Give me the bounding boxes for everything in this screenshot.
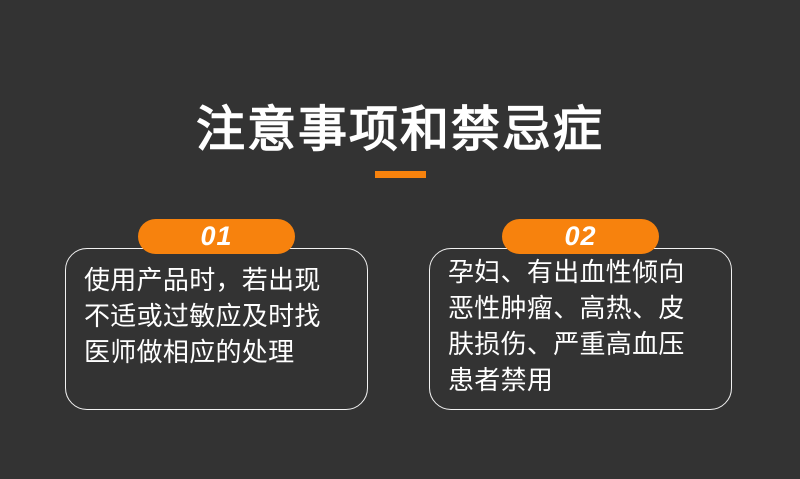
- notice-poster: 注意事项和禁忌症 使用产品时，若出现 不适或过敏应及时找 医师做相应的处理 01…: [0, 0, 800, 479]
- notice-card-01-number-badge: 01: [138, 219, 295, 254]
- notice-card-01: 使用产品时，若出现 不适或过敏应及时找 医师做相应的处理: [65, 248, 368, 410]
- notice-card-01-text: 使用产品时，若出现 不适或过敏应及时找 医师做相应的处理: [84, 262, 359, 370]
- notice-card-02: 孕妇、有出血性倾向 恶性肿瘤、高热、皮 肤损伤、严重高血压 患者禁用: [429, 248, 732, 410]
- notice-card-02-text: 孕妇、有出血性倾向 恶性肿瘤、高热、皮 肤损伤、严重高血压 患者禁用: [448, 254, 723, 398]
- page-title: 注意事项和禁忌症: [0, 99, 800, 161]
- notice-card-02-number-badge: 02: [502, 219, 659, 254]
- title-divider: [375, 171, 426, 178]
